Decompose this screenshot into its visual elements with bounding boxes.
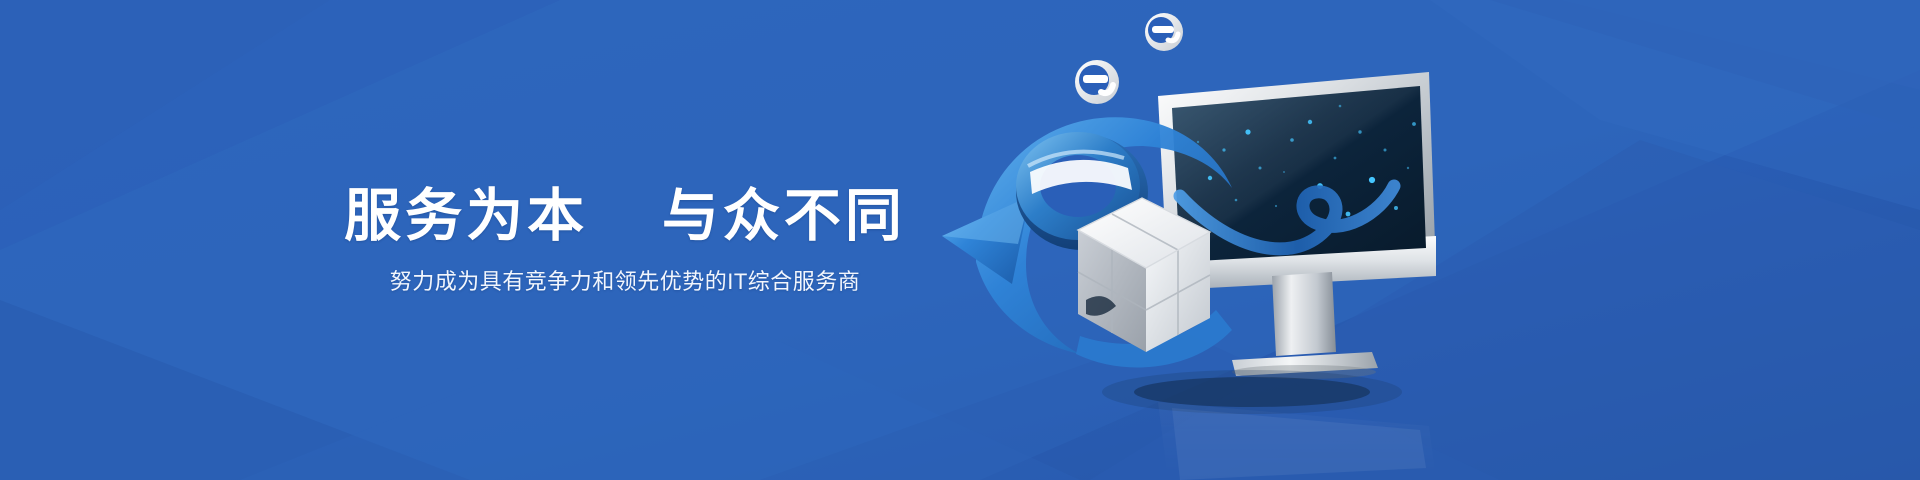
banner-copy: 服务为本 与众不同 努力成为具有竞争力和领先优势的IT综合服务商 bbox=[0, 0, 1250, 480]
banner-headline: 服务为本 与众不同 bbox=[344, 188, 906, 245]
banner-subheadline: 努力成为具有竞争力和领先优势的IT综合服务商 bbox=[390, 271, 861, 293]
headline-phrase-left: 服务为本 bbox=[344, 184, 588, 248]
headline-phrase-right: 与众不同 bbox=[662, 184, 906, 248]
hero-banner: 服务为本 与众不同 努力成为具有竞争力和领先优势的IT综合服务商 bbox=[0, 0, 1920, 480]
